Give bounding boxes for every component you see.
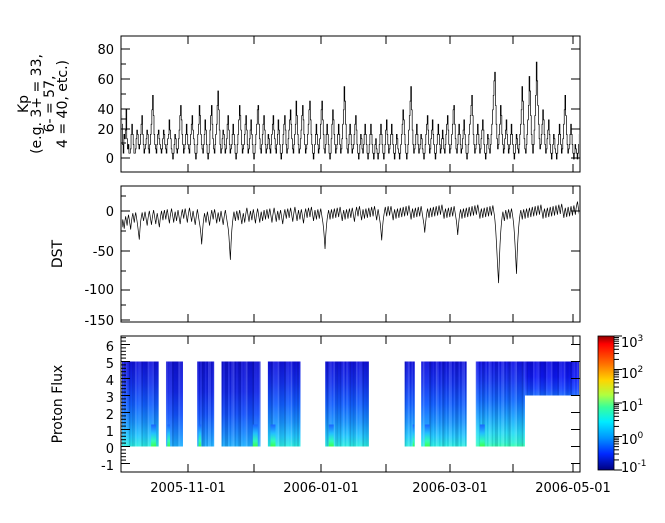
proton-flux-striation (493, 362, 495, 447)
proton-axis-label-text: Proton Flux (50, 365, 66, 444)
proton-flux-striation (525, 362, 527, 396)
proton-flux-striation (203, 362, 205, 447)
proton-flux-striation (278, 362, 280, 447)
proton-flux-striation (248, 362, 250, 447)
proton-ytick-label: 3 (106, 391, 114, 406)
proton-flux-striation (259, 362, 261, 447)
proton-flux-striation (222, 362, 224, 447)
proton-flux-enhancement (167, 425, 170, 447)
proton-flux-striation (528, 362, 530, 396)
proton-flux-striation (444, 362, 446, 447)
kp-ytick-label: 80 (97, 43, 114, 58)
proton-ytick-label: 0 (106, 442, 114, 457)
proton-flux-striation (503, 362, 505, 447)
proton-flux-striation (366, 362, 368, 447)
proton-flux-striation (437, 362, 439, 447)
proton-flux-striation (243, 362, 245, 447)
proton-flux-striation (546, 362, 548, 396)
proton-flux-striation (353, 362, 355, 447)
proton-flux-striation (512, 362, 514, 447)
panel-dst: 0 -50 -100 -150 (50, 186, 580, 329)
proton-flux-striation (206, 362, 208, 447)
proton-flux-striation (405, 362, 407, 447)
proton-flux-striation (171, 362, 173, 447)
proton-flux-striation (561, 362, 563, 396)
proton-flux-striation (569, 362, 571, 396)
proton-flux-striation (146, 362, 148, 447)
proton-flux-striation (181, 362, 183, 447)
proton-flux-striation (477, 362, 479, 447)
proton-flux-striation (476, 362, 478, 447)
kp-ytick-label: 20 (97, 123, 114, 138)
proton-ytick-label: 6 (106, 340, 114, 355)
proton-flux-striation (226, 362, 228, 447)
proton-flux-striation (552, 362, 554, 396)
proton-flux-striation (488, 362, 490, 447)
proton-ytick-label: 5 (106, 357, 114, 372)
proton-flux-striation (157, 362, 159, 447)
proton-flux-enhancement (270, 425, 275, 447)
proton-flux-striation (447, 362, 449, 447)
proton-flux-striation (123, 362, 125, 447)
proton-flux-striation (485, 362, 487, 447)
kp-axis-label-line4: 4 = 40, etc.) (55, 60, 71, 148)
proton-flux-striation (148, 362, 150, 447)
proton-flux-striation (520, 362, 522, 447)
proton-flux-striation (130, 362, 132, 447)
proton-flux-enhancement (199, 425, 202, 447)
proton-flux-striation (299, 362, 301, 447)
proton-ytick-label: 2 (106, 408, 114, 423)
proton-ytick-label: -1 (101, 459, 114, 474)
dst-axes-frame (121, 186, 580, 322)
proton-flux-enhancement (151, 425, 156, 447)
proton-flux-striation (143, 362, 145, 447)
proton-flux-striation (180, 362, 182, 447)
dst-axis-label-text: DST (50, 239, 66, 268)
proton-flux-striation (507, 362, 509, 447)
proton-flux-striation (541, 362, 543, 396)
proton-flux-striation (287, 362, 289, 447)
proton-flux-striation (178, 362, 180, 447)
proton-flux-striation (135, 362, 137, 447)
proton-flux-striation (205, 362, 207, 447)
xtick-label: 2006-01-01 (283, 481, 359, 496)
proton-flux-striation (351, 362, 353, 447)
proton-flux-striation (337, 362, 339, 447)
proton-flux-striation (140, 362, 142, 447)
proton-flux-striation (126, 362, 128, 447)
proton-flux-striation (543, 362, 545, 396)
proton-flux-striation (367, 362, 369, 447)
proton-flux-striation (124, 362, 126, 447)
proton-flux-striation (251, 362, 253, 447)
proton-flux-enhancement (425, 425, 430, 447)
proton-flux-striation (335, 362, 337, 447)
proton-flux-striation (565, 362, 567, 396)
proton-flux-striation (431, 362, 433, 447)
proton-flux-striation (519, 362, 521, 447)
proton-flux-striation (284, 362, 286, 447)
proton-flux-striation (465, 362, 467, 447)
proton-flux-striation (294, 362, 296, 447)
proton-flux-striation (296, 362, 298, 447)
proton-flux-striation (548, 362, 550, 396)
proton-flux-striation (434, 362, 436, 447)
proton-flux-striation (533, 362, 535, 396)
proton-flux-striation (356, 362, 358, 447)
proton-flux-striation (562, 362, 564, 396)
dst-ytick-label: -100 (84, 283, 114, 298)
proton-flux-striation (408, 362, 410, 447)
proton-flux-striation (289, 362, 291, 447)
proton-flux-striation (433, 362, 435, 447)
proton-flux-striation (538, 362, 540, 396)
proton-flux-striation (244, 362, 246, 447)
proton-flux-striation (341, 362, 343, 447)
proton-flux-striation (235, 362, 237, 447)
proton-flux-striation (498, 362, 500, 447)
proton-flux-striation (175, 362, 177, 447)
proton-flux-striation (283, 362, 285, 447)
proton-flux-striation (246, 362, 248, 447)
proton-flux-striation (567, 362, 569, 396)
proton-flux-striation (358, 362, 360, 447)
proton-flux-striation (228, 362, 230, 447)
proton-flux-enhancement (413, 425, 415, 447)
proton-flux-striation (210, 362, 212, 447)
proton-flux-striation (364, 362, 366, 447)
proton-flux-striation (564, 362, 566, 396)
proton-flux-striation (410, 362, 412, 447)
proton-flux-enhancement (329, 425, 334, 447)
proton-ytick-label: 4 (106, 374, 114, 389)
proton-ytick-label: 1 (106, 425, 114, 440)
multi-panel-plot: 80 60 40 20 0 (0, 0, 665, 523)
proton-flux-striation (556, 362, 558, 396)
colorbar-gradient (598, 336, 614, 470)
xtick-label: 2006-03-01 (412, 481, 488, 496)
proton-flux-striation (509, 362, 511, 447)
proton-flux-striation (362, 362, 364, 447)
proton-flux-striation (223, 362, 225, 447)
panel-proton-flux: 6 5 4 3 2 1 0 -1 Proton Fl (50, 336, 611, 496)
proton-flux-striation (297, 362, 299, 447)
proton-flux-striation (325, 362, 327, 447)
dst-axis-label: DST (50, 239, 66, 268)
proton-flux-striation (459, 362, 461, 447)
proton-flux-striation (421, 362, 423, 447)
proton-flux-striation (531, 362, 533, 396)
kp-ytick-label: 40 (97, 103, 114, 118)
proton-flux-striation (174, 362, 176, 447)
proton-flux-striation (527, 362, 529, 396)
proton-flux-striation (291, 362, 293, 447)
proton-flux-striation (535, 362, 537, 396)
proton-flux-striation (439, 362, 441, 447)
proton-flux-striation (141, 362, 143, 447)
proton-flux-striation (423, 362, 425, 447)
proton-flux-striation (511, 362, 513, 447)
proton-flux-striation (557, 362, 559, 396)
proton-flux-striation (137, 362, 139, 447)
proton-flux-striation (449, 362, 451, 447)
proton-flux-striation (544, 362, 546, 396)
proton-flux-striation (268, 362, 270, 447)
proton-flux-striation (132, 362, 134, 447)
proton-flux-striation (495, 362, 497, 447)
proton-flux-striation (172, 362, 174, 447)
proton-flux-striation (454, 362, 456, 447)
proton-flux-striation (138, 362, 140, 447)
proton-flux-striation (540, 362, 542, 396)
proton-flux-striation (127, 362, 129, 447)
proton-flux-striation (450, 362, 452, 447)
proton-flux-enhancement (253, 425, 258, 447)
proton-flux-striation (549, 362, 551, 396)
proton-flux-striation (554, 362, 556, 396)
proton-flux-striation (211, 362, 213, 447)
proton-flux-striation (279, 362, 281, 447)
proton-flux-striation (496, 362, 498, 447)
proton-flux-striation (345, 362, 347, 447)
dst-ytick-label: 0 (106, 205, 114, 220)
proton-flux-striation (197, 362, 199, 447)
proton-flux-striation (490, 362, 492, 447)
proton-flux-striation (230, 362, 232, 447)
proton-flux-striation (149, 362, 151, 447)
proton-flux-striation (349, 362, 351, 447)
proton-flux-striation (515, 362, 517, 447)
proton-flux-striation (446, 362, 448, 447)
proton-flux-striation (361, 362, 363, 447)
proton-flux-striation (492, 362, 494, 447)
proton-flux-striation (506, 362, 508, 447)
proton-flux-striation (281, 362, 283, 447)
proton-flux-striation (463, 362, 465, 447)
proton-flux-striation (536, 362, 538, 396)
proton-flux-striation (559, 362, 561, 396)
proton-flux-striation (460, 362, 462, 447)
proton-flux-striation (452, 362, 454, 447)
dst-ytick-label: -50 (93, 245, 114, 260)
proton-flux-striation (241, 362, 243, 447)
proton-flux-striation (129, 362, 131, 447)
proton-flux-striation (239, 362, 241, 447)
proton-flux-striation (236, 362, 238, 447)
proton-flux-striation (145, 362, 147, 447)
proton-axis-label: Proton Flux (50, 365, 66, 444)
proton-flux-striation (238, 362, 240, 447)
proton-flux-striation (523, 362, 525, 447)
proton-flux-striation (225, 362, 227, 447)
xtick-label: 2005-11-01 (150, 481, 226, 496)
proton-flux-striation (522, 362, 524, 447)
proton-flux-striation (457, 362, 459, 447)
proton-flux-striation (517, 362, 519, 447)
proton-flux-striation (441, 362, 443, 447)
proton-flux-striation (348, 362, 350, 447)
proton-flux-striation (487, 362, 489, 447)
proton-flux-striation (462, 362, 464, 447)
kp-ytick-label: 0 (106, 152, 114, 167)
proton-flux-striation (442, 362, 444, 447)
proton-flux-striation (213, 362, 215, 447)
proton-flux-striation (406, 362, 408, 447)
proton-flux-striation (134, 362, 136, 447)
proton-flux-striation (208, 362, 210, 447)
proton-flux-striation (231, 362, 233, 447)
proton-flux-striation (233, 362, 235, 447)
proton-flux-enhancement (480, 425, 485, 447)
proton-flux-striation (292, 362, 294, 447)
proton-flux-striation (327, 362, 329, 447)
figure-canvas: 80 60 40 20 0 (0, 0, 665, 523)
proton-flux-striation (530, 362, 532, 396)
proton-flux-striation (514, 362, 516, 447)
proton-flux-striation (166, 362, 168, 447)
proton-flux-striation (500, 362, 502, 447)
proton-flux-striation (455, 362, 457, 447)
proton-flux-striation (501, 362, 503, 447)
proton-flux-striation (504, 362, 506, 447)
proton-flux-striation (249, 362, 251, 447)
proton-flux-striation (436, 362, 438, 447)
proton-flux-striation (286, 362, 288, 447)
dst-ytick-label: -150 (84, 314, 114, 329)
proton-flux-striation (359, 362, 361, 447)
proton-flux-striation (177, 362, 179, 447)
proton-flux-striation (343, 362, 345, 447)
proton-flux-striation (202, 362, 204, 447)
proton-flux-striation (340, 362, 342, 447)
proton-flux-striation (276, 362, 278, 447)
proton-flux-striation (346, 362, 348, 447)
xtick-label: 2006-05-01 (535, 481, 611, 496)
proton-flux-striation (338, 362, 340, 447)
proton-flux-striation (354, 362, 356, 447)
proton-flux-striation (551, 362, 553, 396)
kp-ytick-label: 60 (97, 73, 114, 88)
